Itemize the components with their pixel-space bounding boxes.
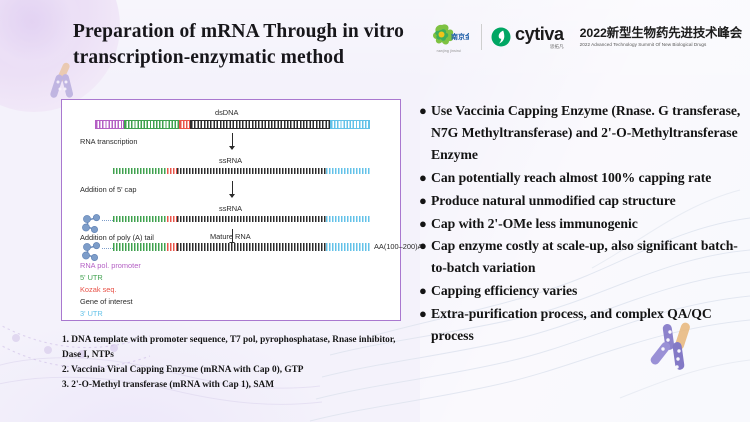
summit-branding: 2022新型生物药先进技术峰会 2022 Advanced Technology… — [580, 27, 742, 47]
mature-rna-strand — [113, 243, 370, 251]
bullet-item: ● Cap with 2'-OMe less immunogenic — [419, 213, 743, 235]
legend-item-kozak: Kozak seq. — [80, 284, 141, 296]
segment-5utr — [113, 168, 167, 174]
bullet-marker-icon: ● — [419, 280, 431, 302]
flower-logo-icon: 南京金 — [429, 22, 469, 48]
bullet-item: ● Capping efficiency varies — [419, 280, 743, 302]
bullet-text: Can potentially reach almost 100% cappin… — [431, 167, 711, 189]
footnote-3: 3. 2'-O-Methyl transferase (mRNA with Ca… — [62, 378, 412, 393]
diagram-label-mature-rna: Mature RNA — [210, 232, 251, 241]
segment-gene — [177, 243, 326, 251]
legend-item-3utr: 3' UTR — [80, 308, 141, 320]
bullet-item: ● Produce natural unmodified cap structu… — [419, 190, 743, 212]
segment-3utr — [326, 243, 370, 251]
cap-linker-1 — [102, 220, 113, 221]
segment-kozak — [167, 243, 177, 251]
bullet-item: ● Use Vaccinia Capping Enzyme (Rnase. G … — [419, 100, 743, 167]
bullet-marker-icon: ● — [419, 190, 431, 212]
segment-3utr — [326, 168, 370, 174]
nanjing-logo-sub: nanjing jinsirui — [437, 49, 462, 53]
bullet-item: ● Can potentially reach almost 100% capp… — [419, 167, 743, 189]
diagram-legend: RNA pol. promoter 5' UTR Kozak seq. Gene… — [80, 260, 141, 320]
bullet-marker-icon: ● — [419, 235, 431, 257]
segment-gene — [190, 120, 330, 129]
ssrna-strand-1 — [113, 168, 370, 174]
diagram-label-dsdna: dsDNA — [215, 108, 238, 117]
bullet-text: Produce natural unmodified cap structure — [431, 190, 676, 212]
summit-title-cn: 2022新型生物药先进技术峰会 — [580, 27, 742, 41]
segment-3utr — [330, 120, 370, 129]
cytiva-wordmark: cytiva — [515, 25, 564, 43]
footnote-1: 1. DNA template with promoter sequence, … — [62, 333, 412, 363]
cytiva-logo: cytiva 思拓凡 — [491, 25, 564, 50]
mrna-synthesis-diagram-panel: dsDNA RNA transcription ssRNA Addition o… — [61, 99, 401, 321]
diagram-arrow-2 — [232, 181, 233, 197]
bullet-marker-icon: ● — [419, 167, 431, 189]
purple-blob-top-left-inner — [0, 0, 80, 70]
bullet-text: Cap enzyme costly at scale-up, also sign… — [431, 235, 743, 279]
cap-linker-2 — [102, 248, 113, 249]
cytiva-mark-icon — [491, 27, 511, 47]
diagram-label-ssrna-2: ssRNA — [219, 204, 242, 213]
segment-gene — [177, 216, 326, 222]
bullet-item: ● Cap enzyme costly at scale-up, also si… — [419, 235, 743, 279]
segment-3utr — [326, 216, 370, 222]
legend-item-5utr: 5' UTR — [80, 272, 141, 284]
legend-item-gene: Gene of interest — [80, 296, 141, 308]
segment-promoter — [95, 120, 124, 129]
summit-title-en: 2022 Advanced Technology Summit Of New B… — [580, 42, 742, 47]
nanjing-logo: 南京金 nanjing jinsirui — [426, 22, 472, 53]
bullet-text: Capping efficiency varies — [431, 280, 577, 302]
dsdna-strand — [95, 120, 370, 129]
cytiva-chinese-name: 思拓凡 — [550, 44, 564, 50]
bullet-marker-icon: ● — [419, 213, 431, 235]
diagram-label-rna-transcription: RNA transcription — [80, 137, 138, 146]
logo-divider — [481, 24, 482, 50]
diagram-label-addition-5cap: Addition of 5' cap — [80, 185, 136, 194]
ssrna-strand-2 — [113, 216, 370, 222]
bullet-text: Cap with 2'-OMe less immunogenic — [431, 213, 638, 235]
diagram-label-polya-tail: AA(100–200)A — [374, 242, 422, 251]
segment-5utr — [124, 120, 179, 129]
segment-kozak — [167, 168, 177, 174]
bullet-text: Extra-purification process, and complex … — [431, 303, 743, 347]
bullet-marker-icon: ● — [419, 100, 431, 122]
segment-5utr — [113, 243, 167, 251]
footnote-2: 2. Vaccinia Viral Capping Enzyme (mRNA w… — [62, 363, 412, 378]
footnotes: 1. DNA template with promoter sequence, … — [62, 333, 412, 393]
svg-text:南京金: 南京金 — [451, 32, 469, 41]
segment-kozak — [179, 120, 190, 129]
page-title: Preparation of mRNA Through in vitro tra… — [73, 19, 425, 71]
bullet-item: ● Extra-purification process, and comple… — [419, 303, 743, 347]
logo-bar: 南京金 nanjing jinsirui cytiva 思拓凡 2022新型生物… — [426, 22, 742, 53]
bullet-text: Use Vaccinia Capping Enzyme (Rnase. G tr… — [431, 100, 743, 167]
diagram-arrow-1 — [232, 133, 233, 149]
segment-kozak — [167, 216, 177, 222]
segment-gene — [177, 168, 326, 174]
segment-5utr — [113, 216, 167, 222]
bullet-marker-icon: ● — [419, 303, 431, 325]
diagram-label-ssrna-1: ssRNA — [219, 156, 242, 165]
bullet-list: ● Use Vaccinia Capping Enzyme (Rnase. G … — [419, 100, 743, 348]
legend-item-promoter: RNA pol. promoter — [80, 260, 141, 272]
